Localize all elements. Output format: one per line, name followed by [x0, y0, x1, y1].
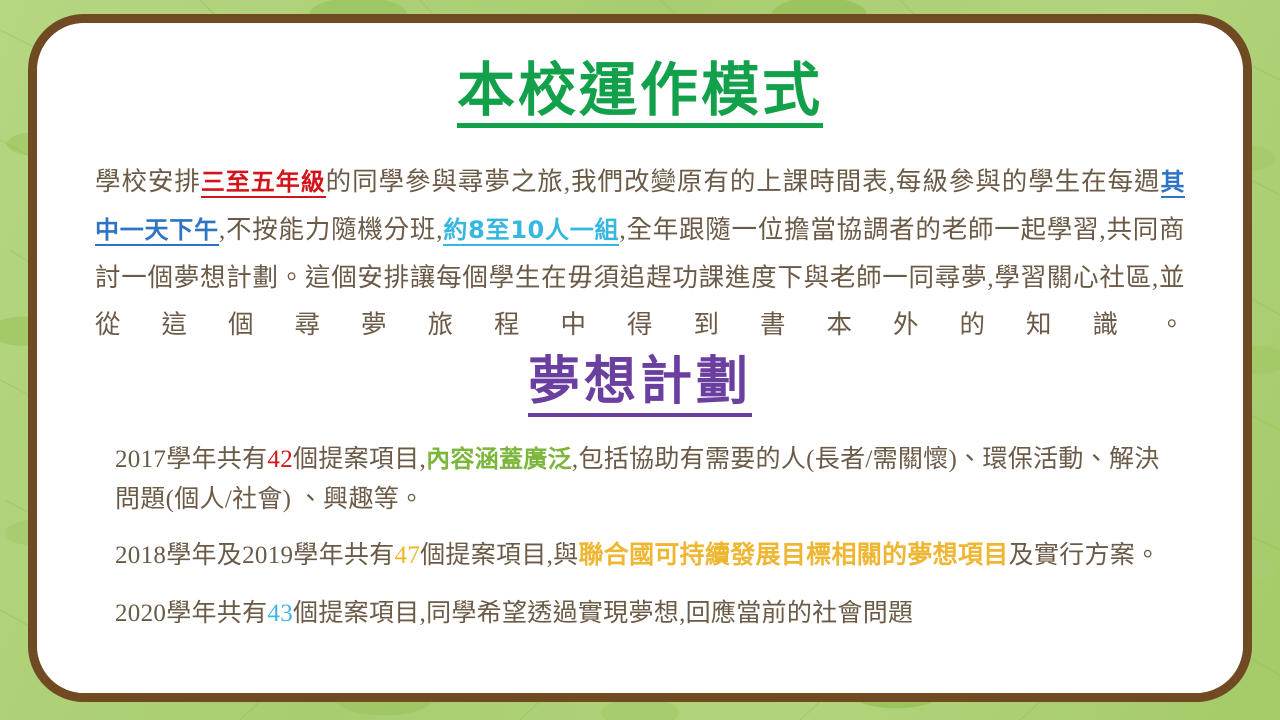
proposal-count: 42 — [267, 446, 293, 473]
bullet-segment-2: 個提案項目,同學希望透過實現夢想,回應當前的社會問題 — [293, 600, 913, 627]
slide-content: 本校運作模式 學校安排三至五年級的同學參與尋夢之旅,我們改變原有的上課時間表,每… — [37, 23, 1243, 693]
intro-segment-2: 的同學參與尋夢之旅,我們改變原有的上課時間表,每級參與的學生在每週 — [326, 167, 1161, 196]
list-item: 2017學年共有42個提案項目,內容涵蓋廣泛,包括協助有需要的人(長者/需關懷)… — [115, 439, 1181, 520]
section-title-dream-plan: 夢想計劃 — [37, 356, 1243, 417]
bullet-segment-2: 個提案項目, — [293, 446, 426, 473]
page-title: 本校運作模式 — [37, 61, 1243, 134]
page-title-text: 本校運作模式 — [457, 61, 823, 128]
bullet-segment-3: 及實行方案。 — [1009, 542, 1161, 569]
bullet-segment-1: 2020學年共有 — [115, 600, 267, 627]
intro-segment-1: 學校安排 — [95, 167, 201, 196]
bullet-list: 2017學年共有42個提案項目,內容涵蓋廣泛,包括協助有需要的人(長者/需關懷)… — [115, 439, 1181, 634]
content-frame: 本校運作模式 學校安排三至五年級的同學參與尋夢之旅,我們改變原有的上課時間表,每… — [28, 14, 1252, 702]
intro-paragraph: 學校安排三至五年級的同學參與尋夢之旅,我們改變原有的上課時間表,每級參與的學生在… — [95, 158, 1185, 348]
proposal-count: 43 — [267, 600, 293, 627]
list-item: 2018學年及2019學年共有47個提案項目,與聯合國可持續發展目標相關的夢想項… — [115, 535, 1181, 576]
list-item: 2020學年共有43個提案項目,同學希望透過實現夢想,回應當前的社會問題 — [115, 594, 1181, 634]
content-panel: 本校運作模式 學校安排三至五年級的同學參與尋夢之旅,我們改變原有的上課時間表,每… — [37, 23, 1243, 693]
highlight-group-size: 約8至10人一組 — [443, 216, 619, 246]
proposal-count: 47 — [395, 542, 421, 569]
bullet-segment-2: 個提案項目,與 — [420, 542, 578, 569]
slide-root: 本校運作模式 學校安排三至五年級的同學參與尋夢之旅,我們改變原有的上課時間表,每… — [0, 0, 1280, 720]
bullet-segment-1: 2017學年共有 — [115, 446, 267, 473]
bullet-highlight: 聯合國可持續發展目標相關的夢想項目 — [578, 540, 1008, 569]
bullet-highlight: 內容涵蓋廣泛 — [426, 445, 572, 473]
bullet-segment-1: 2018學年及2019學年共有 — [115, 542, 395, 569]
highlight-grades: 三至五年級 — [201, 168, 326, 198]
intro-segment-3: ,不按能力隨機分班, — [219, 215, 443, 244]
section-title-text: 夢想計劃 — [528, 356, 752, 417]
